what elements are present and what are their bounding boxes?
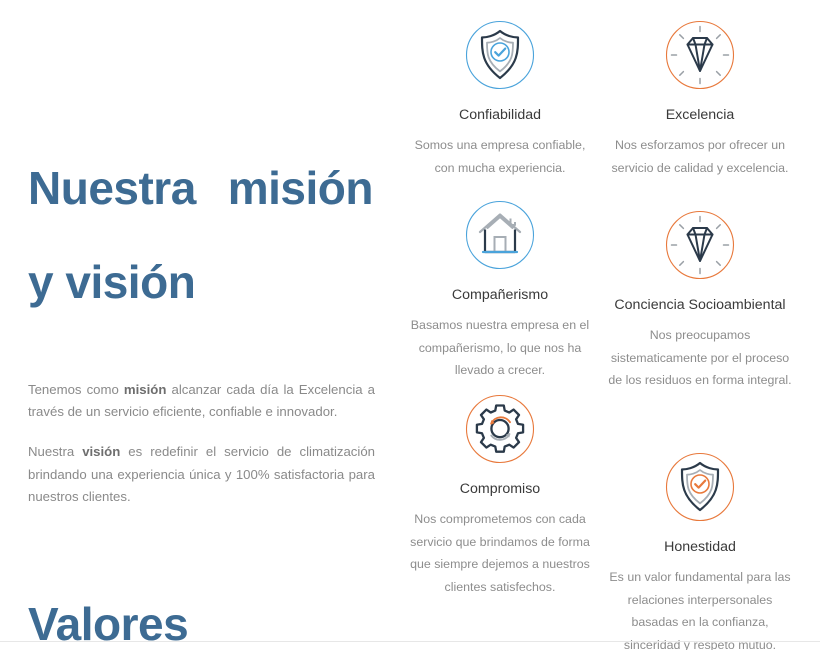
gear-refresh-icon (463, 392, 537, 466)
value-card-description: Nos esforzamos por ofrecer un servicio d… (600, 134, 800, 179)
diamond-sparkle-icon (663, 18, 737, 92)
bottom-divider (0, 641, 820, 642)
vision-keyword: visión (82, 444, 120, 459)
mission-paragraph-prefix: Tenemos como (28, 382, 124, 397)
value-card-description: Nos preocupamos sistematicamente por el … (600, 324, 800, 392)
value-card-description: Es un valor fundamental para las relacio… (600, 566, 800, 650)
vision-paragraph-prefix: Nuestra (28, 444, 82, 459)
shield-check-icon (463, 18, 537, 92)
house-home-icon (463, 198, 537, 272)
value-card-excelencia: Excelencia Nos esforzamos por ofrecer un… (600, 18, 800, 179)
mission-keyword: misión (124, 382, 167, 397)
about-mission-vision-page: Nuestramisión y visión Tenemos como misi… (0, 0, 820, 650)
values-card-grid: Confiabilidad Somos una empresa confiabl… (400, 0, 820, 650)
page-title-word-1: Nuestra (28, 165, 196, 212)
mission-paragraph: Tenemos como misión alcanzar cada día la… (28, 379, 375, 424)
value-card-description: Somos una empresa confiable, con mucha e… (400, 134, 600, 179)
value-card-title: Compromiso (400, 480, 600, 499)
mission-values-column: Nuestramisión y visión Tenemos como misi… (0, 0, 400, 650)
value-card-title: Compañerismo (400, 286, 600, 305)
diamond-sparkle-icon (663, 208, 737, 282)
value-card-description: Nos comprometemos con cada servicio que … (400, 508, 600, 598)
page-title-line-2: y visión (28, 259, 370, 306)
value-card-title: Confiabilidad (400, 106, 600, 125)
value-card-companerismo: Compañerismo Basamos nuestra empresa en … (400, 198, 600, 382)
shield-check-icon (663, 450, 737, 524)
value-card-compromiso: Compromiso Nos comprometemos con cada se… (400, 392, 600, 598)
value-card-title: Excelencia (600, 106, 800, 125)
value-card-description: Basamos nuestra empresa en el compañeris… (400, 314, 600, 382)
value-card-confiabilidad: Confiabilidad Somos una empresa confiabl… (400, 18, 600, 179)
value-card-title: Honestidad (600, 538, 800, 557)
value-card-honestidad: Honestidad Es un valor fundamental para … (600, 450, 800, 650)
page-title-word-2: misión (228, 165, 373, 212)
value-card-conciencia-socioambiental: Conciencia Socioambiental Nos preocupamo… (600, 208, 800, 392)
value-card-title: Conciencia Socioambiental (600, 296, 800, 315)
page-title: Nuestramisión y visión (28, 118, 370, 353)
vision-paragraph: Nuestra visión es redefinir el servicio … (28, 441, 375, 509)
